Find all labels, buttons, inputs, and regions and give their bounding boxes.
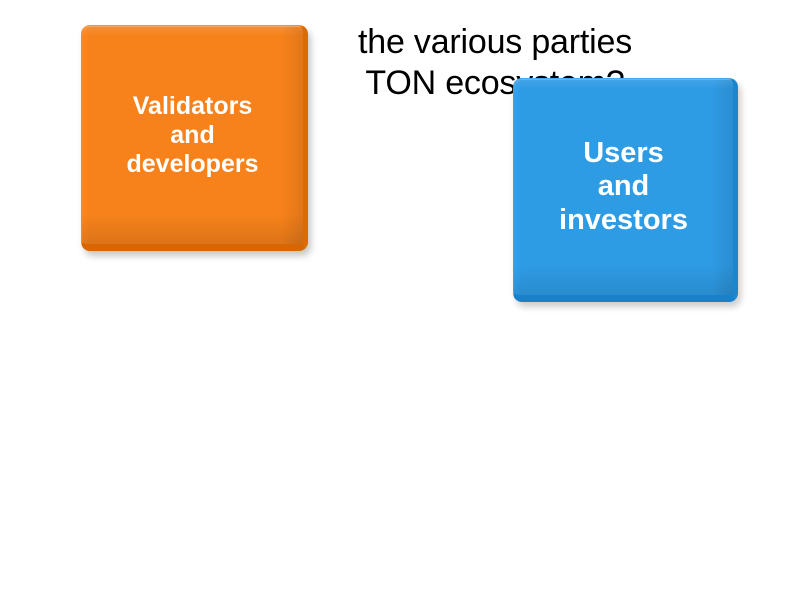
box-validators-line-1: Validators xyxy=(88,92,297,121)
box-validators-line-3: developers xyxy=(88,150,297,179)
box-validators-line-2: and xyxy=(88,121,297,150)
box-validators-and-developers[interactable]: Validators and developers xyxy=(81,25,308,251)
slide-canvas: the various parties TON ecosystem? Valid… xyxy=(0,0,800,600)
box-users-and-investors[interactable]: Users and investors xyxy=(513,78,738,302)
heading-line-1: the various parties xyxy=(260,22,730,63)
box-users-line-3: investors xyxy=(520,204,727,238)
box-users-line-1: Users xyxy=(520,137,727,171)
box-validators-label: Validators and developers xyxy=(82,92,303,179)
box-users-label: Users and investors xyxy=(514,137,733,238)
box-users-line-2: and xyxy=(520,170,727,204)
